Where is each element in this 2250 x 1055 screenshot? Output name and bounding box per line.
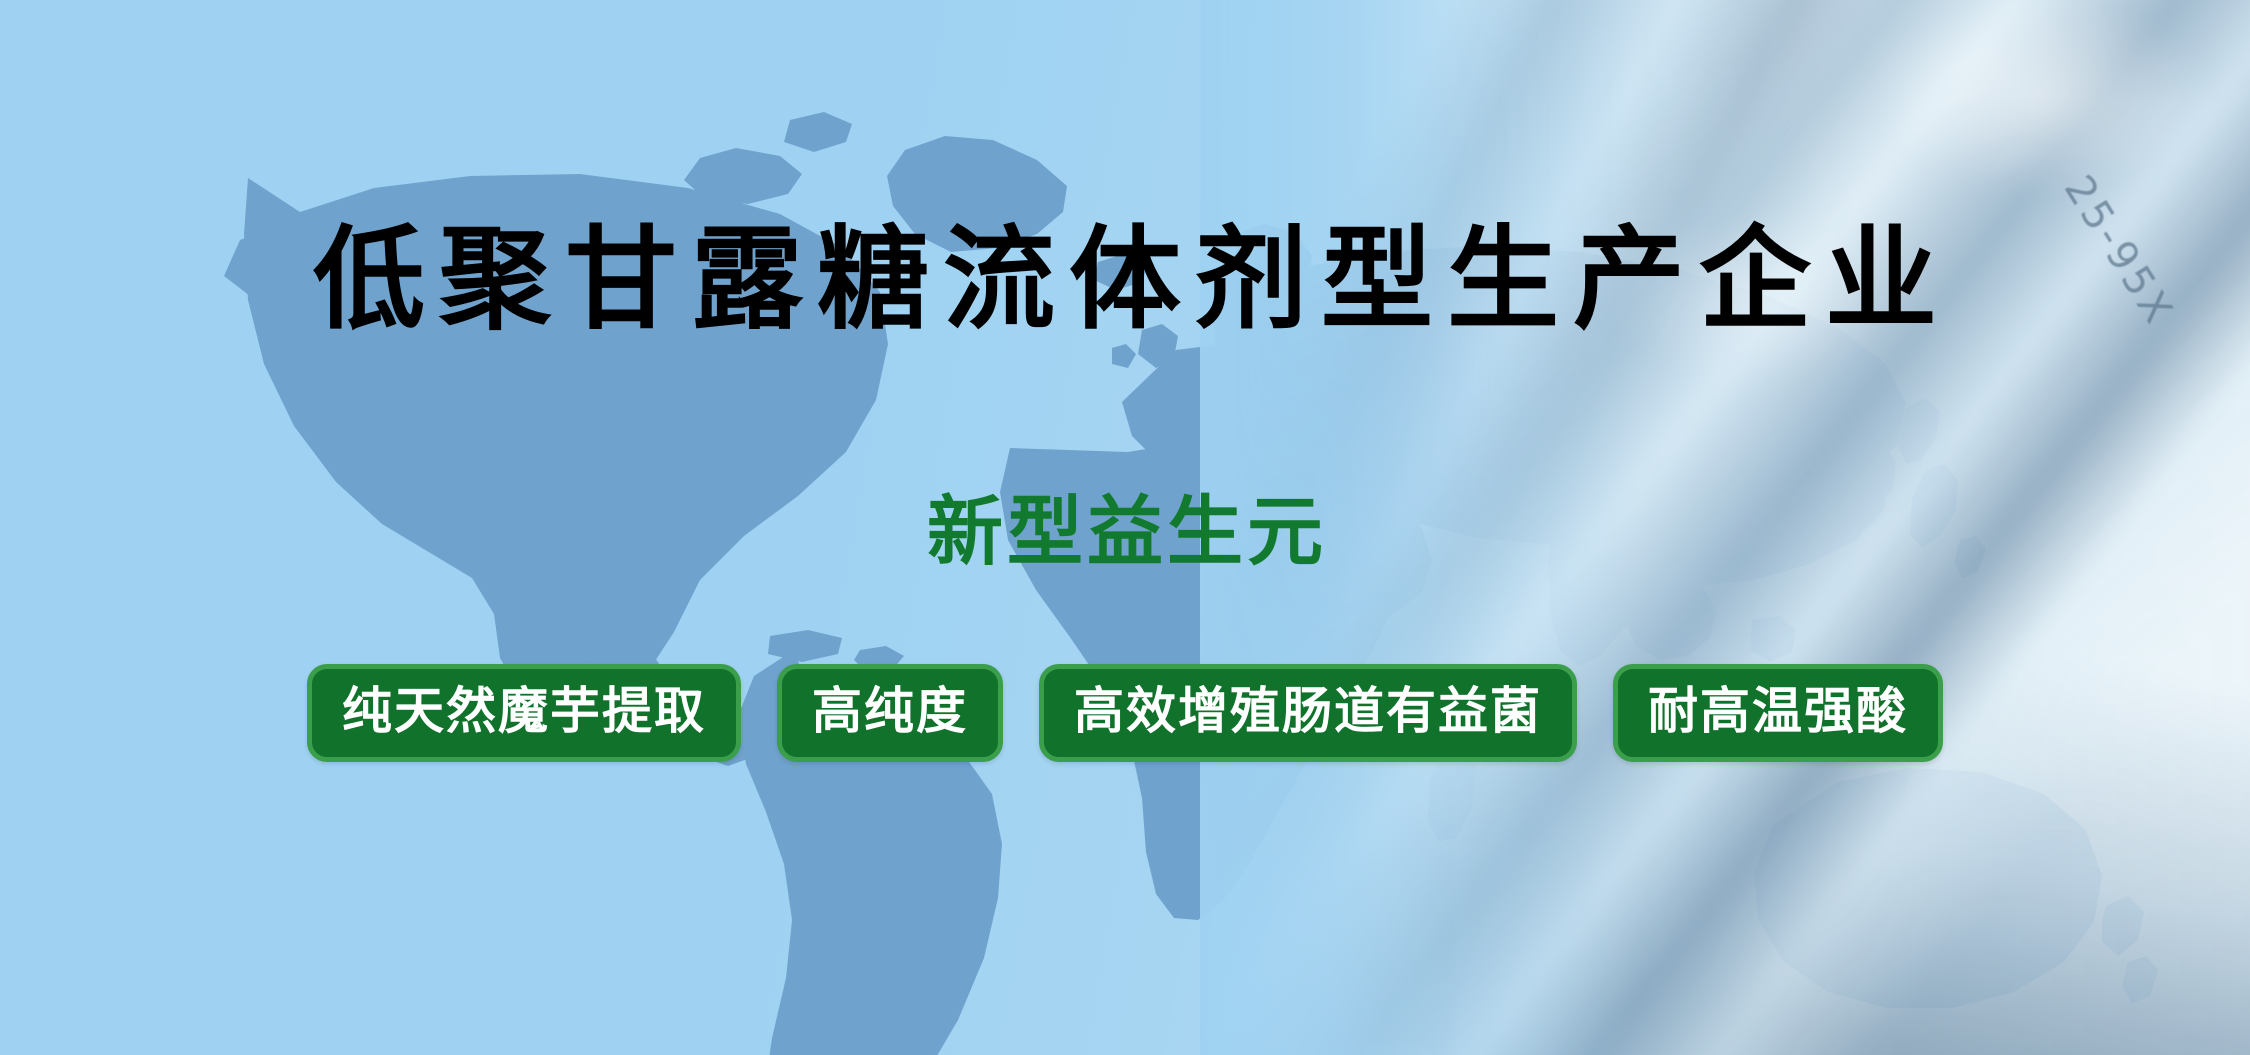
promotional-banner: 25-95X 低聚甘露糖流体剂型生产企业 新型益生元 纯天然魔芋提取 高纯度 高… xyxy=(0,0,2250,1055)
feature-badge: 高效增殖肠道有益菌 xyxy=(1039,664,1577,762)
feature-badge: 纯天然魔芋提取 xyxy=(307,664,741,762)
feature-badge-list: 纯天然魔芋提取 高纯度 高效增殖肠道有益菌 耐高温强酸 xyxy=(0,664,2250,762)
banner-content: 低聚甘露糖流体剂型生产企业 新型益生元 纯天然魔芋提取 高纯度 高效增殖肠道有益… xyxy=(0,0,2250,1055)
subtitle: 新型益生元 xyxy=(0,492,2250,572)
feature-badge: 耐高温强酸 xyxy=(1613,664,1943,762)
page-title: 低聚甘露糖流体剂型生产企业 xyxy=(0,222,2250,340)
feature-badge: 高纯度 xyxy=(777,664,1003,762)
